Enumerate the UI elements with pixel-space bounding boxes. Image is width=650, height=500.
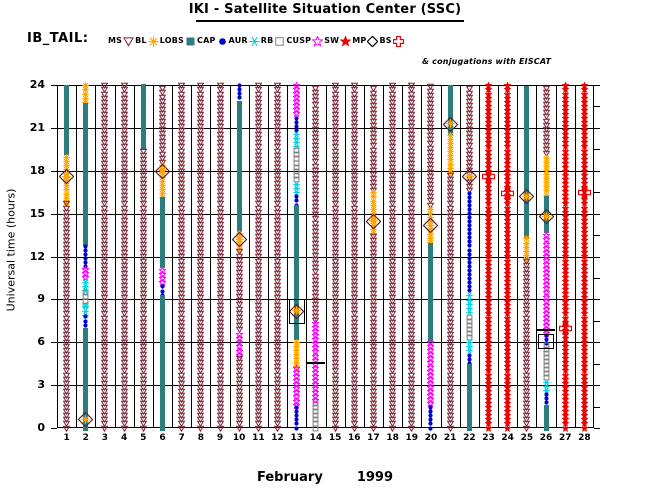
day-track-22 bbox=[462, 85, 476, 428]
marker-lobs bbox=[236, 100, 243, 107]
y-axis-title: Universal time (hours) bbox=[5, 189, 18, 312]
y-tick-right bbox=[594, 299, 600, 300]
column-separator bbox=[95, 85, 96, 428]
marker-sw bbox=[485, 82, 492, 89]
marker-cusp bbox=[236, 331, 243, 338]
marker-bl bbox=[523, 235, 530, 242]
column-separator bbox=[345, 85, 346, 428]
event-marker-bs bbox=[482, 168, 496, 182]
event-marker-mp bbox=[60, 169, 74, 183]
page-title: IKI - Satellite Situation Center (SSC) bbox=[0, 2, 650, 17]
y-tick-right bbox=[594, 149, 600, 150]
x-tick-label: 25 bbox=[517, 433, 537, 443]
x-tick-label: 21 bbox=[440, 433, 460, 443]
column-separator bbox=[249, 85, 250, 428]
marker-ms bbox=[370, 233, 377, 240]
day-track-10 bbox=[232, 85, 246, 428]
square-open-icon bbox=[274, 36, 285, 47]
column-separator bbox=[287, 85, 288, 428]
marker-bl bbox=[293, 339, 300, 346]
event-marker-mp bbox=[462, 169, 476, 183]
marker-lobs bbox=[82, 327, 89, 334]
marker-aur bbox=[293, 131, 300, 138]
marker-cap bbox=[293, 193, 300, 200]
plot-area: 03691215182124 Universal time (hours) 12… bbox=[57, 85, 594, 428]
day-track-18 bbox=[386, 85, 400, 428]
legend: MSBLLOBSCAPAURRBCUSPSWMPBS bbox=[108, 33, 405, 49]
day-track-2 bbox=[79, 85, 93, 428]
column-separator bbox=[536, 85, 537, 428]
marker-rb bbox=[466, 314, 473, 321]
day-track-21 bbox=[443, 85, 457, 428]
marker-lobs bbox=[159, 294, 166, 301]
legend-item-label: MP bbox=[352, 37, 366, 45]
x-axis-year: 1999 bbox=[357, 470, 393, 485]
x-axis-month: February bbox=[257, 470, 323, 485]
event-marker-mp bbox=[443, 117, 457, 131]
day-track-28 bbox=[577, 85, 591, 428]
marker-lobs bbox=[447, 84, 454, 91]
star-burst-icon bbox=[148, 36, 159, 47]
legend-item-label: CUSP bbox=[286, 37, 311, 45]
legend-item-sw: SW bbox=[324, 33, 352, 49]
column-separator bbox=[230, 85, 231, 428]
column-separator bbox=[153, 85, 154, 428]
column-separator bbox=[210, 85, 211, 428]
marker-ms bbox=[408, 82, 415, 89]
circle-filled-icon bbox=[217, 36, 228, 47]
y-tick-label: 21 bbox=[19, 121, 45, 134]
marker-ms bbox=[63, 200, 70, 207]
x-tick-label: 15 bbox=[325, 433, 345, 443]
y-tick-label: 18 bbox=[19, 164, 45, 177]
day-track-8 bbox=[194, 85, 208, 428]
x-tick-label: 11 bbox=[248, 433, 268, 443]
day-track-1 bbox=[60, 85, 74, 428]
star-small-icon bbox=[340, 36, 351, 47]
marker-lobs bbox=[427, 242, 434, 249]
asterisk-icon bbox=[249, 36, 260, 47]
x-tick-label: 7 bbox=[172, 433, 192, 443]
marker-rb bbox=[293, 147, 300, 154]
column-separator bbox=[191, 85, 192, 428]
diamond-open-icon bbox=[367, 36, 378, 47]
x-tick-label: 4 bbox=[114, 433, 134, 443]
event-marker-mp bbox=[366, 214, 380, 228]
marker-ms bbox=[197, 82, 204, 89]
x-tick-label: 2 bbox=[76, 433, 96, 443]
column-separator bbox=[172, 85, 173, 428]
legend-item-ms: MS bbox=[108, 33, 135, 49]
legend-item-label: SW bbox=[324, 37, 339, 45]
marker-lobs bbox=[543, 195, 550, 202]
marker-lobs bbox=[159, 196, 166, 203]
marker-ms bbox=[332, 82, 339, 89]
marker-lobs bbox=[63, 84, 70, 91]
day-track-15 bbox=[328, 85, 342, 428]
event-marker-bs bbox=[501, 185, 515, 199]
marker-ms bbox=[427, 83, 434, 90]
day-track-9 bbox=[213, 85, 227, 428]
x-tick-label: 17 bbox=[363, 433, 383, 443]
day-track-14 bbox=[309, 85, 323, 428]
x-tick-label: 18 bbox=[383, 433, 403, 443]
event-marker-bs bbox=[558, 320, 572, 334]
marker-ms bbox=[140, 148, 147, 155]
day-track-19 bbox=[405, 85, 419, 428]
y-tick-right bbox=[594, 278, 600, 279]
marker-lobs bbox=[466, 363, 473, 370]
marker-bl bbox=[447, 132, 454, 139]
x-tick-label: 24 bbox=[498, 433, 518, 443]
x-tick-label: 13 bbox=[287, 433, 307, 443]
marker-ms bbox=[312, 85, 319, 92]
marker-aur bbox=[82, 279, 89, 286]
column-separator bbox=[268, 85, 269, 428]
x-tick-label: 10 bbox=[229, 433, 249, 443]
column-separator bbox=[364, 85, 365, 428]
y-tick-label: 12 bbox=[19, 250, 45, 263]
marker-cusp bbox=[543, 232, 550, 239]
marker-cap bbox=[293, 404, 300, 411]
y-tick bbox=[51, 342, 57, 343]
legend-item-label: MS bbox=[108, 37, 122, 45]
day-track-20 bbox=[424, 85, 438, 428]
y-tick-right bbox=[594, 385, 600, 386]
y-tick bbox=[51, 85, 57, 86]
marker-cap bbox=[236, 82, 243, 89]
event-marker-mp bbox=[155, 164, 169, 178]
marker-bl bbox=[427, 206, 434, 213]
star-open-icon bbox=[312, 36, 323, 47]
day-track-7 bbox=[175, 85, 189, 428]
column-separator bbox=[498, 85, 499, 428]
legend-item-bs: BS bbox=[379, 33, 404, 49]
y-tick-right bbox=[594, 192, 600, 193]
marker-cusp bbox=[159, 267, 166, 274]
marker-ms bbox=[447, 172, 454, 179]
x-tick-label: 27 bbox=[555, 433, 575, 443]
y-tick bbox=[51, 299, 57, 300]
marker-sw bbox=[581, 82, 588, 89]
marker-aur bbox=[543, 379, 550, 386]
column-separator bbox=[575, 85, 576, 428]
x-tick-label: 3 bbox=[95, 433, 115, 443]
cross-open-icon bbox=[393, 36, 404, 47]
legend-item-label: LOBS bbox=[160, 37, 184, 45]
marker-lobs bbox=[293, 204, 300, 211]
day-track-11 bbox=[251, 85, 265, 428]
legend-item-cusp: CUSP bbox=[286, 33, 324, 49]
y-tick-right bbox=[594, 257, 600, 258]
marker-ms bbox=[351, 82, 358, 89]
y-tick-right bbox=[594, 321, 600, 322]
column-separator bbox=[134, 85, 135, 428]
x-tick-label: 1 bbox=[57, 433, 77, 443]
y-tick-right bbox=[594, 85, 600, 86]
column-separator bbox=[402, 85, 403, 428]
marker-ms bbox=[178, 82, 185, 89]
column-separator bbox=[383, 85, 384, 428]
marker-ms bbox=[543, 85, 550, 92]
day-track-5 bbox=[136, 85, 150, 428]
y-tick-label: 0 bbox=[19, 421, 45, 434]
day-track-27 bbox=[558, 85, 572, 428]
day-track-4 bbox=[117, 85, 131, 428]
marker-cap bbox=[82, 313, 89, 320]
marker-cusp bbox=[82, 266, 89, 273]
event-marker-bs bbox=[577, 184, 591, 198]
marker-ms bbox=[236, 355, 243, 362]
title-underline bbox=[196, 20, 464, 22]
legend-item-label: AUR bbox=[229, 37, 248, 45]
x-tick-label: 23 bbox=[479, 433, 499, 443]
column-separator bbox=[76, 85, 77, 428]
column-separator bbox=[517, 85, 518, 428]
highlight-box bbox=[289, 299, 305, 323]
marker-ms bbox=[101, 82, 108, 89]
marker-bl bbox=[82, 82, 89, 89]
legend-item-bl: BL bbox=[135, 33, 160, 49]
square-filled-icon bbox=[185, 36, 196, 47]
x-tick-label: 28 bbox=[574, 433, 594, 443]
marker-bl bbox=[370, 189, 377, 196]
marker-cusp bbox=[312, 320, 319, 327]
day-track-24 bbox=[501, 85, 515, 428]
marker-ms bbox=[121, 82, 128, 89]
marker-cusp bbox=[293, 365, 300, 372]
column-separator bbox=[306, 85, 307, 428]
marker-ms bbox=[255, 82, 262, 89]
x-tick-label: 9 bbox=[210, 433, 230, 443]
marker-lobs bbox=[543, 404, 550, 411]
x-tick-label: 20 bbox=[421, 433, 441, 443]
marker-sw bbox=[562, 82, 569, 89]
triangle-down-open-icon bbox=[123, 36, 134, 47]
y-tick-right bbox=[594, 128, 600, 129]
legend-item-lobs: LOBS bbox=[160, 33, 197, 49]
day-track-17 bbox=[366, 85, 380, 428]
marker-ms bbox=[466, 85, 473, 92]
event-marker-mp bbox=[424, 218, 438, 232]
column-separator bbox=[115, 85, 116, 428]
y-tick bbox=[51, 257, 57, 258]
highlight-bar bbox=[537, 329, 555, 331]
marker-bl bbox=[543, 155, 550, 162]
marker-ms bbox=[217, 82, 224, 89]
highlight-bar bbox=[307, 362, 325, 364]
y-tick-right bbox=[594, 342, 600, 343]
legend-item-cap: CAP bbox=[197, 33, 229, 49]
y-tick-right bbox=[594, 428, 600, 429]
marker-aur bbox=[466, 292, 473, 299]
event-marker-mp bbox=[520, 189, 534, 203]
day-track-23 bbox=[482, 85, 496, 428]
marker-ms bbox=[523, 258, 530, 265]
column-separator bbox=[556, 85, 557, 428]
chart-root: IKI - Satellite Situation Center (SSC) I… bbox=[0, 0, 650, 500]
conjugation-note: & conjugations with EISCAT bbox=[422, 57, 551, 66]
y-tick-right bbox=[594, 407, 600, 408]
marker-cusp bbox=[427, 339, 434, 346]
y-tick-label: 6 bbox=[19, 335, 45, 348]
day-track-3 bbox=[98, 85, 112, 428]
y-tick bbox=[51, 171, 57, 172]
marker-aur bbox=[293, 181, 300, 188]
y-tick-right bbox=[594, 214, 600, 215]
y-tick-right bbox=[594, 106, 600, 107]
y-tick bbox=[51, 428, 57, 429]
x-tick-label: 6 bbox=[152, 433, 172, 443]
y-tick-right bbox=[594, 364, 600, 365]
legend-item-label: BS bbox=[379, 37, 391, 45]
marker-cap bbox=[293, 115, 300, 122]
x-tick-label: 14 bbox=[306, 433, 326, 443]
column-separator bbox=[421, 85, 422, 428]
legend-item-label: BL bbox=[135, 37, 147, 45]
marker-cap bbox=[466, 190, 473, 197]
x-axis-title: February1999 bbox=[0, 470, 650, 485]
y-tick-label: 24 bbox=[19, 78, 45, 91]
column-separator bbox=[479, 85, 480, 428]
column-separator bbox=[441, 85, 442, 428]
y-tick-label: 3 bbox=[19, 378, 45, 391]
marker-aur bbox=[82, 303, 89, 310]
x-tick-label: 19 bbox=[402, 433, 422, 443]
event-marker-mp bbox=[79, 412, 93, 426]
marker-rb bbox=[82, 289, 89, 296]
marker-cap bbox=[427, 404, 434, 411]
marker-aur bbox=[466, 339, 473, 346]
marker-ms bbox=[236, 248, 243, 255]
marker-ms bbox=[159, 85, 166, 92]
x-tick-label: 16 bbox=[344, 433, 364, 443]
event-marker-mp bbox=[232, 232, 246, 246]
marker-cap bbox=[159, 283, 166, 290]
y-tick bbox=[51, 128, 57, 129]
x-tick-label: 22 bbox=[459, 433, 479, 443]
marker-cap bbox=[543, 391, 550, 398]
marker-lobs bbox=[523, 85, 530, 92]
marker-bl bbox=[63, 154, 70, 161]
day-track-16 bbox=[347, 85, 361, 428]
dataset-tag: IB_TAIL: bbox=[27, 31, 88, 46]
x-tick-label: 5 bbox=[133, 433, 153, 443]
column-separator bbox=[326, 85, 327, 428]
day-track-6 bbox=[155, 85, 169, 428]
legend-item-rb: RB bbox=[261, 33, 287, 49]
marker-rb bbox=[312, 400, 319, 407]
y-tick-right bbox=[594, 171, 600, 172]
legend-item-mp: MP bbox=[352, 33, 379, 49]
column-separator bbox=[460, 85, 461, 428]
marker-ms bbox=[370, 85, 377, 92]
y-tick-label: 15 bbox=[19, 207, 45, 220]
x-tick-label: 26 bbox=[536, 433, 556, 443]
marker-sw bbox=[504, 82, 511, 89]
day-track-12 bbox=[271, 85, 285, 428]
marker-ms bbox=[389, 82, 396, 89]
legend-item-label: CAP bbox=[197, 37, 216, 45]
y-tick bbox=[51, 214, 57, 215]
x-tick-label: 12 bbox=[268, 433, 288, 443]
marker-cap bbox=[466, 352, 473, 359]
marker-lobs bbox=[82, 102, 89, 109]
marker-cusp bbox=[293, 82, 300, 89]
y-tick-label: 9 bbox=[19, 292, 45, 305]
marker-cap bbox=[82, 243, 89, 250]
x-tick-label: 8 bbox=[191, 433, 211, 443]
legend-item-label: RB bbox=[261, 37, 274, 45]
marker-lobs bbox=[140, 83, 147, 90]
highlight-box bbox=[538, 334, 554, 350]
day-track-13 bbox=[290, 85, 304, 428]
y-tick bbox=[51, 385, 57, 386]
legend-item-aur: AUR bbox=[229, 33, 261, 49]
marker-ms bbox=[274, 82, 281, 89]
day-track-25 bbox=[520, 85, 534, 428]
y-tick-right bbox=[594, 235, 600, 236]
day-track-26 bbox=[539, 85, 553, 428]
event-marker-mp bbox=[539, 209, 553, 223]
